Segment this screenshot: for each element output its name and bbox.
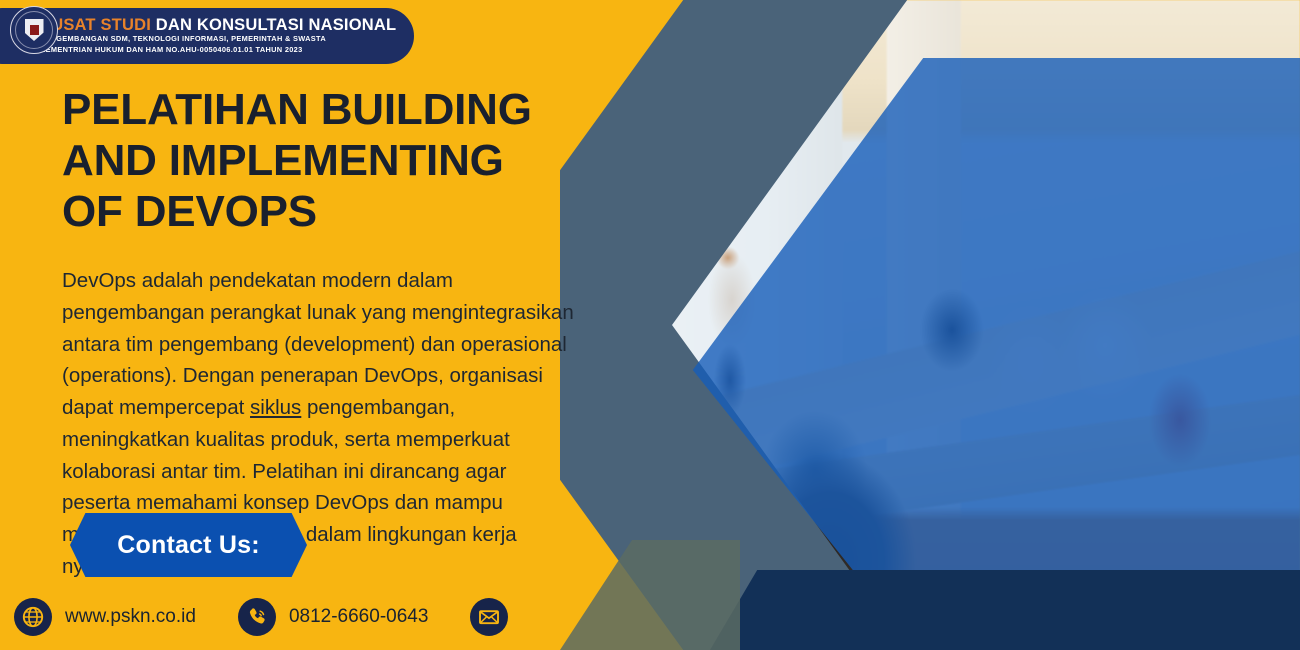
- contact-item-phone[interactable]: 0812-6660-0643: [238, 598, 428, 636]
- organization-name-secondary: DAN KONSULTASI NASIONAL: [156, 16, 396, 34]
- contact-us-button-label: Contact Us:: [117, 531, 259, 560]
- organization-subtitle-line-1: PENGEMBANGAN SDM, TEKNOLOGI INFORMASI, P…: [40, 34, 396, 45]
- organization-logo-bar: PUSAT STUDI DAN KONSULTASI NASIONAL PENG…: [0, 8, 414, 64]
- envelope-icon: [470, 598, 508, 636]
- banner-artwork: [560, 0, 1300, 650]
- phone-text: 0812-6660-0643: [289, 606, 428, 628]
- promotional-banner: PUSAT STUDI DAN KONSULTASI NASIONAL PENG…: [0, 0, 1300, 650]
- website-text: www.pskn.co.id: [65, 606, 196, 628]
- contact-item-email[interactable]: [470, 598, 521, 636]
- organization-name: PUSAT STUDI DAN KONSULTASI NASIONAL: [40, 17, 396, 34]
- page-title: PELATIHAN BUILDING AND IMPLEMENTING OF D…: [62, 84, 562, 237]
- organization-subtitle-line-2: KEMENTRIAN HUKUM DAN HAM NO.AHU-0050406.…: [40, 45, 396, 56]
- seal-shield-icon: [10, 6, 58, 54]
- globe-icon: [14, 598, 52, 636]
- contact-info-row: www.pskn.co.id 0812-6660-0643: [14, 598, 563, 636]
- navy-band-shape: [710, 570, 1300, 650]
- contact-item-website[interactable]: www.pskn.co.id: [14, 598, 196, 636]
- phone-icon: [238, 598, 276, 636]
- paragraph-underlined-word: siklus: [250, 396, 301, 419]
- contact-us-button[interactable]: Contact Us:: [70, 513, 307, 577]
